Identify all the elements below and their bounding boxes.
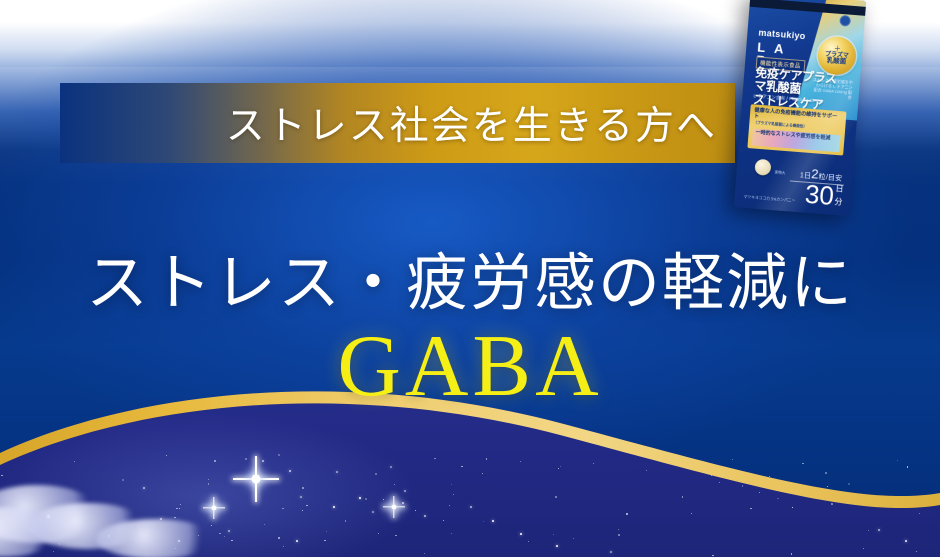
star [919,513,920,514]
star-core [392,505,397,510]
star [228,530,230,532]
star-core [252,475,261,484]
star [905,540,907,542]
star-burst-icon [213,507,215,509]
star [777,498,778,499]
star [827,486,828,487]
star [520,533,522,535]
star [560,466,561,467]
star [750,508,751,509]
tablet-note: 実物大 [774,170,785,176]
star [528,541,529,542]
star [742,485,743,486]
star [556,545,558,547]
star [179,508,180,509]
product-package[interactable]: matsukiyo L A B 機能性表示食品 免疫ケアプラズマ乳酸菌 ストレス… [734,0,867,216]
claim-gradient-row: 一時的なストレスや疲労感を軽減 [752,128,841,152]
star [486,458,487,459]
section-banner-text: ストレス社会を生きる方へ [226,95,717,151]
star [791,553,792,554]
star [262,460,264,462]
star [390,466,392,468]
star [300,496,302,498]
star [296,540,298,542]
star [610,551,612,553]
star [306,505,307,506]
badge-line2: 乳酸菌 [826,58,846,66]
cloud [96,519,216,557]
star [143,487,145,489]
star [878,529,880,531]
days-unit: 日 分 [834,182,844,210]
star [916,551,917,552]
star [333,506,335,508]
star [359,497,361,499]
star [345,520,346,521]
days-supply: 30 日 分 [804,180,844,210]
star-core [212,506,217,511]
days-number: 30 [804,181,835,209]
star [176,508,177,509]
star [424,515,426,517]
star [394,484,395,485]
star [461,466,462,467]
star [831,503,833,505]
star [907,466,908,467]
star [336,471,338,473]
hero-banner-page: ストレス社会を生きる方へ ストレス・疲労感の軽減に GABA matsukiyo… [0,0,940,557]
star [618,529,619,530]
star [324,540,325,541]
days-unit-line2: 分 [834,197,843,207]
star [848,483,850,485]
star [732,459,733,460]
star [492,520,494,522]
star [402,502,404,504]
package-side-note: ストレスや疲労感をやわらげる L-テアニン配合 GABA 100mg 配合 [812,77,853,100]
manufacturer-text: マツキヨココカラ&カンパニー [743,195,795,204]
star [769,476,770,477]
star [208,483,209,484]
star [618,534,619,535]
claim-line2: 一時的なストレスや疲労感を軽減 [755,130,837,142]
star [451,533,452,534]
package-front: matsukiyo L A B 機能性表示食品 免疫ケアプラズマ乳酸菌 ストレス… [734,0,867,216]
star [214,460,216,462]
star [825,472,827,474]
star [245,458,247,460]
star [378,533,379,534]
package-claim-box: 健康な人の免疫機能の維持をサポート （プラズマ乳酸菌による機能性） 一時的なスト… [747,104,846,155]
section-banner: ストレス社会を生きる方へ [60,83,735,163]
star [208,479,209,480]
star [224,536,225,537]
star [470,506,472,508]
star [802,463,803,464]
days-unit-line1: 日 [835,184,844,194]
keyword-gaba: GABA [0,316,940,417]
tablet-image [754,159,771,176]
star [289,470,291,472]
star [372,511,374,513]
star [219,533,220,534]
star [282,508,283,509]
star [483,521,484,522]
star [712,555,713,556]
claim-line1-text: 健康な人の免疫機能の維持をサポート [754,107,838,120]
star [646,470,647,471]
star [404,490,406,492]
star [897,460,898,461]
page-title: ストレス・疲労感の軽減に [0,232,940,322]
star [415,510,416,511]
star [395,535,396,536]
star-burst-icon [255,478,257,480]
claim-line1: 健康な人の免疫機能の維持をサポート （プラズマ乳酸菌による機能性） [753,107,842,132]
star-burst-icon [393,506,395,508]
